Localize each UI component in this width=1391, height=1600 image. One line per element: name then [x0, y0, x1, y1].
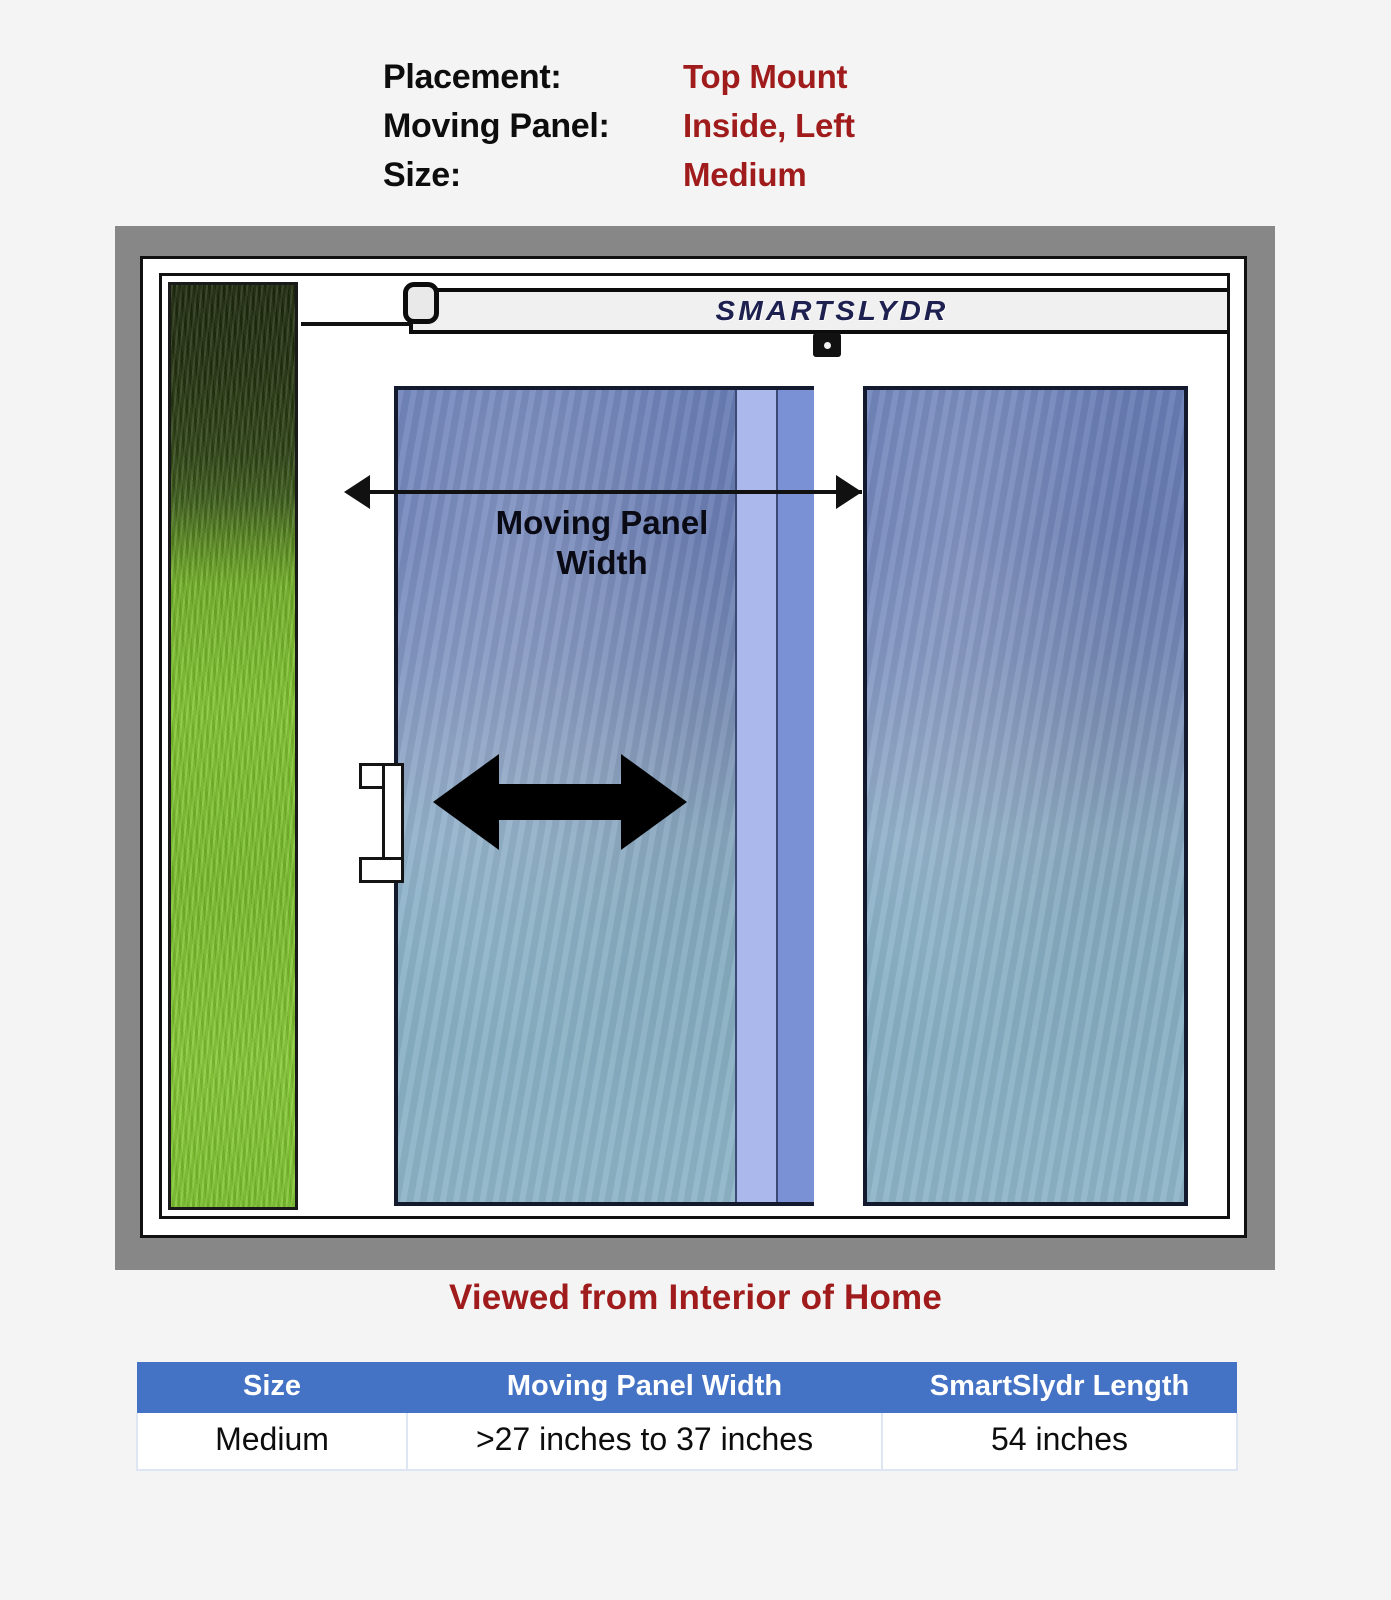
spec-value-moving-panel: Inside, Left — [683, 107, 855, 145]
cell-smartslydr-length: 54 inches — [882, 1413, 1237, 1470]
spec-label-moving-panel: Moving Panel: — [383, 107, 683, 146]
fixed-panel-glass — [863, 386, 1188, 1206]
left-sidelight-yard-view — [168, 282, 298, 1210]
table-header-row: Size Moving Panel Width SmartSlydr Lengt… — [137, 1362, 1237, 1413]
column-header-smartslydr-length: SmartSlydr Length — [882, 1362, 1237, 1413]
spec-value-size: Medium — [683, 156, 806, 194]
door-handle-icon[interactable] — [359, 763, 404, 883]
track-line-top-left — [301, 322, 413, 326]
moving-panel-width-label: Moving Panel Width — [402, 503, 802, 584]
smartslydr-logo: SMARTSLYDR — [715, 295, 948, 327]
rail-end-cap-left — [403, 282, 439, 324]
column-header-size: Size — [137, 1362, 407, 1413]
spec-label-placement: Placement: — [383, 58, 683, 97]
size-reference-table: Size Moving Panel Width SmartSlydr Lengt… — [136, 1362, 1238, 1471]
sensor-lens — [821, 339, 834, 352]
spec-value-placement: Top Mount — [683, 58, 847, 96]
cell-size: Medium — [137, 1413, 407, 1470]
dimension-label-line2: Width — [402, 543, 802, 583]
double-headed-horizontal-arrow-icon — [433, 748, 687, 856]
smartslydr-rail[interactable]: SMARTSLYDR — [409, 288, 1230, 334]
table-row: Medium >27 inches to 37 inches 54 inches — [137, 1413, 1237, 1470]
spec-row-moving-panel: Moving Panel: Inside, Left — [383, 107, 1003, 156]
sliding-door-diagram: SMARTSLYDR Moving Panel Width — [115, 226, 1275, 1270]
door-inner-frame: SMARTSLYDR Moving Panel Width — [159, 273, 1230, 1219]
cell-moving-panel-width: >27 inches to 37 inches — [407, 1413, 882, 1470]
spec-label-size: Size: — [383, 156, 683, 195]
view-caption: Viewed from Interior of Home — [0, 1278, 1391, 1318]
spec-row-size: Size: Medium — [383, 156, 1003, 205]
door-outer-frame: SMARTSLYDR Moving Panel Width — [140, 256, 1247, 1238]
specification-summary: Placement: Top Mount Moving Panel: Insid… — [383, 58, 1003, 205]
dimension-label-line1: Moving Panel — [402, 503, 802, 543]
handle-bottom-arm — [359, 857, 404, 883]
dimension-arrow-right-icon — [836, 475, 862, 509]
dimension-line — [362, 490, 862, 494]
spec-row-placement: Placement: Top Mount — [383, 58, 1003, 107]
column-header-moving-panel-width: Moving Panel Width — [407, 1362, 882, 1413]
camera-sensor-icon — [813, 333, 841, 357]
